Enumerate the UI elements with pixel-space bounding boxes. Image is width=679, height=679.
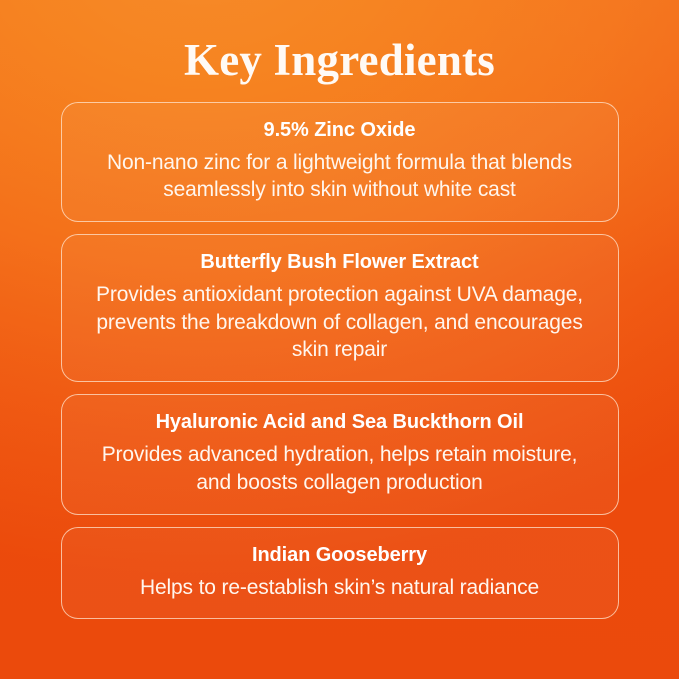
ingredient-card-heading: 9.5% Zinc Oxide: [84, 117, 596, 143]
ingredient-card-body: Provides advanced hydration, helps retai…: [84, 441, 596, 496]
ingredient-card-body: Provides antioxidant protection against …: [84, 281, 596, 364]
ingredient-card-heading: Butterfly Bush Flower Extract: [84, 249, 596, 275]
key-ingredients-poster: Key Ingredients 9.5% Zinc Oxide Non-nano…: [0, 0, 679, 679]
ingredient-card-list: 9.5% Zinc Oxide Non-nano zinc for a ligh…: [61, 86, 619, 620]
ingredient-card-zinc-oxide: 9.5% Zinc Oxide Non-nano zinc for a ligh…: [61, 102, 619, 222]
ingredient-card-butterfly-bush-flower-extract: Butterfly Bush Flower Extract Provides a…: [61, 234, 619, 382]
ingredient-card-body: Helps to re-establish skin’s natural rad…: [84, 574, 596, 602]
ingredient-card-indian-gooseberry: Indian Gooseberry Helps to re-establish …: [61, 527, 619, 620]
page-title: Key Ingredients: [0, 0, 679, 86]
ingredient-card-heading: Hyaluronic Acid and Sea Buckthorn Oil: [84, 409, 596, 435]
ingredient-card-heading: Indian Gooseberry: [84, 542, 596, 568]
ingredient-card-body: Non-nano zinc for a lightweight formula …: [84, 149, 596, 204]
ingredient-card-hyaluronic-acid-sea-buckthorn-oil: Hyaluronic Acid and Sea Buckthorn Oil Pr…: [61, 394, 619, 514]
